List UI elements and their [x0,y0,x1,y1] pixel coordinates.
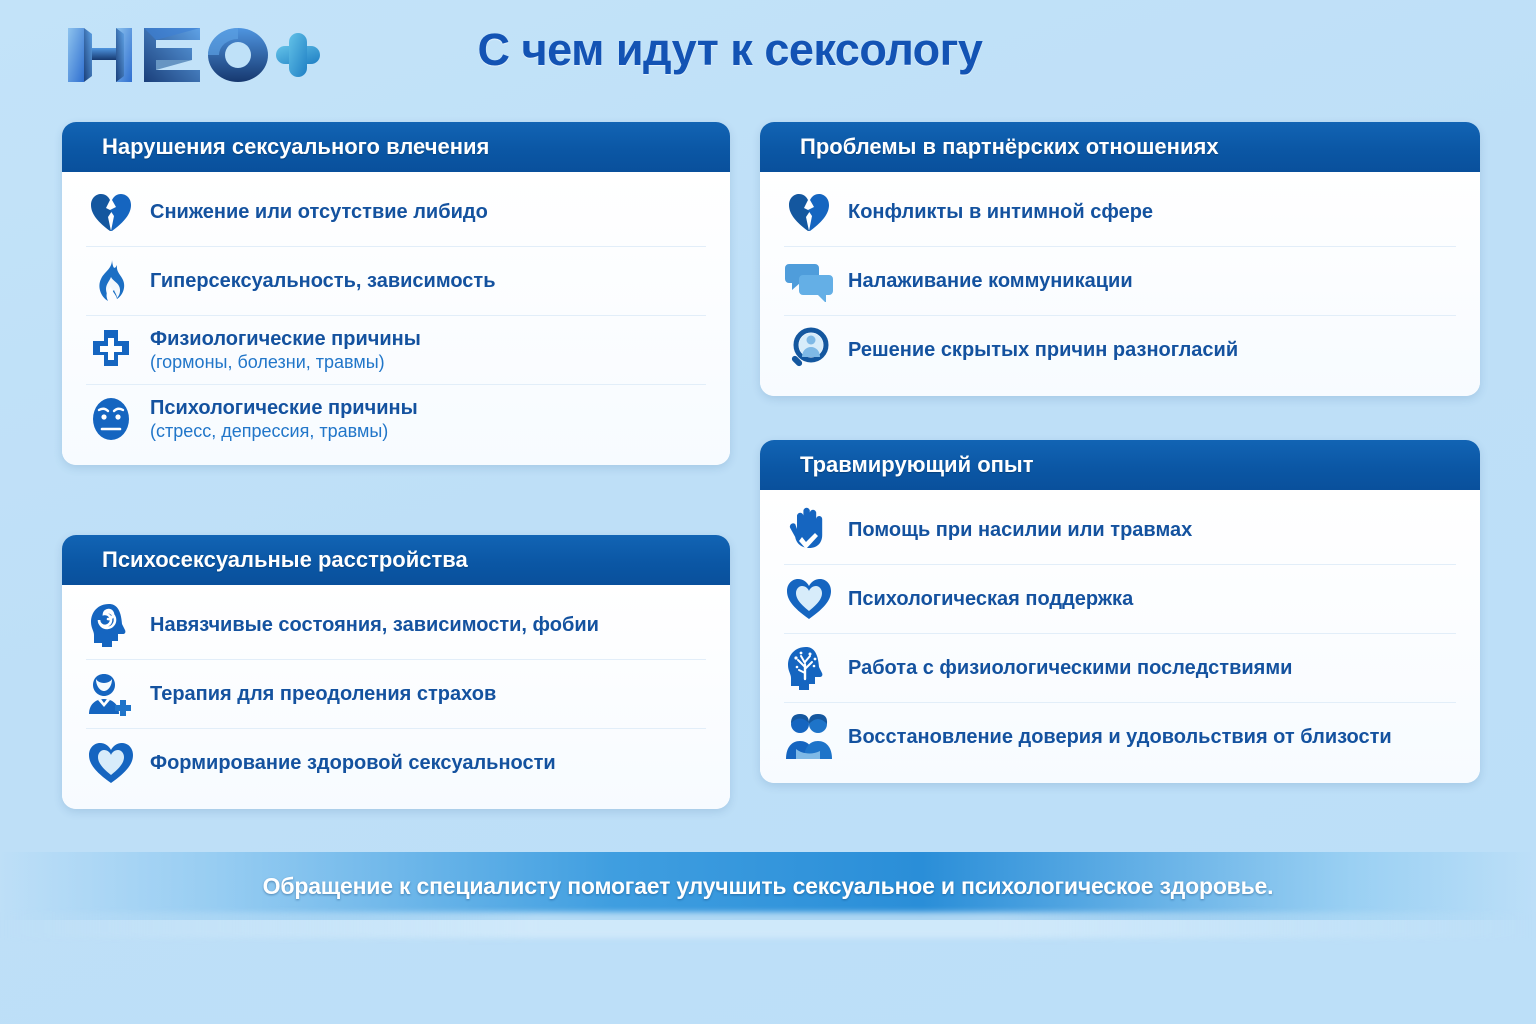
list-item[interactable]: Психологические причины (стресс, депресс… [86,385,706,453]
list-item[interactable]: Снижение или отсутствие либидо [86,178,706,247]
list-item[interactable]: Восстановление доверия и удовольствия от… [784,703,1456,771]
list-item-label: Психологические причины [150,397,418,419]
card-libido-title: Нарушения сексуального влечения [102,134,489,160]
card-psychosexual-body: Навязчивые состояния, зависимости, фобии… [62,585,730,809]
list-item[interactable]: Физиологические причины (гормоны, болезн… [86,316,706,385]
heart-icon [86,738,136,788]
card-libido-header: Нарушения сексуального влечения [62,122,730,172]
card-trauma-header: Травмирующий опыт [760,440,1480,490]
card-trauma-body: Помощь при насилии или травмах Психологи… [760,490,1480,783]
list-item-text: Восстановление доверия и удовольствия от… [848,726,1392,748]
list-item-label: Налаживание коммуникации [848,270,1133,292]
footer-text: Обращение к специалисту помогает улучшит… [263,873,1274,900]
card-partner: Проблемы в партнёрских отношениях Конфли… [760,122,1480,396]
list-item-label: Конфликты в интимной сфере [848,201,1153,223]
list-item-label: Снижение или отсутствие либидо [150,201,488,223]
card-partner-title: Проблемы в партнёрских отношениях [800,134,1219,160]
list-item[interactable]: Решение скрытых причин разногласий [784,316,1456,384]
list-item-label: Физиологические причины [150,328,421,350]
person-plus-icon [86,669,136,719]
sad-face-icon [86,394,136,444]
broken-heart-icon [784,187,834,237]
list-item-text: Терапия для преодоления страхов [150,683,496,705]
flame-icon [86,256,136,306]
footer-banner: Обращение к специалисту помогает улучшит… [0,852,1536,920]
list-item[interactable]: Психологическая поддержка [784,565,1456,634]
list-item[interactable]: Формирование здоровой сексуальности [86,729,706,797]
card-libido: Нарушения сексуального влечения Снижение… [62,122,730,465]
card-trauma: Травмирующий опыт Помощь при насилии или… [760,440,1480,783]
card-trauma-title: Травмирующий опыт [800,452,1034,478]
list-item-text: Работа с физиологическими последствиями [848,657,1292,679]
medical-cross-icon [86,325,136,375]
list-item-label: Гиперсексуальность, зависимость [150,270,496,292]
list-item[interactable]: Работа с физиологическими последствиями [784,634,1456,703]
list-item[interactable]: Помощь при насилии или травмах [784,496,1456,565]
page-header: С чем идут к сексологу [0,0,1536,108]
list-item-text: Снижение или отсутствие либидо [150,201,488,223]
list-item-text: Конфликты в интимной сфере [848,201,1153,223]
neo-plus-logo [60,20,320,90]
list-item-label: Психологическая поддержка [848,588,1133,610]
list-item-text: Физиологические причины (гормоны, болезн… [150,328,421,373]
list-item[interactable]: Конфликты в интимной сфере [784,178,1456,247]
footer-glow [0,912,1536,938]
card-partner-header: Проблемы в партнёрских отношениях [760,122,1480,172]
card-psychosexual-header: Психосексуальные расстройства [62,535,730,585]
list-item-sublabel: (гормоны, болезни, травмы) [150,352,421,372]
couple-embrace-icon [784,712,834,762]
list-item-label: Работа с физиологическими последствиями [848,657,1292,679]
head-spiral-icon [86,600,136,650]
list-item-label: Терапия для преодоления страхов [150,683,496,705]
list-item-label: Навязчивые состояния, зависимости, фобии [150,614,599,636]
list-item-text: Налаживание коммуникации [848,270,1133,292]
card-partner-body: Конфликты в интимной сфере Налаживание к… [760,172,1480,396]
list-item-text: Гиперсексуальность, зависимость [150,270,496,292]
heart-icon [784,574,834,624]
list-item[interactable]: Навязчивые состояния, зависимости, фобии [86,591,706,660]
list-item-text: Психологическая поддержка [848,588,1133,610]
list-item-text: Навязчивые состояния, зависимости, фобии [150,614,599,636]
list-item[interactable]: Терапия для преодоления страхов [86,660,706,729]
broken-heart-icon [86,187,136,237]
card-psychosexual: Психосексуальные расстройства Навязчивые… [62,535,730,809]
page-title: С чем идут к сексологу [380,24,1080,76]
hand-check-icon [784,505,834,555]
list-item-text: Формирование здоровой сексуальности [150,752,556,774]
list-item[interactable]: Гиперсексуальность, зависимость [86,247,706,316]
list-item-text: Психологические причины (стресс, депресс… [150,397,418,442]
infographic-page: С чем идут к сексологу Нарушения сексуал… [0,0,1536,1024]
list-item-label: Помощь при насилии или травмах [848,519,1192,541]
chat-bubbles-icon [784,256,834,306]
list-item-text: Решение скрытых причин разногласий [848,339,1238,361]
list-item-label: Восстановление доверия и удовольствия от… [848,726,1392,748]
magnifier-person-icon [784,325,834,375]
list-item-label: Решение скрытых причин разногласий [848,339,1238,361]
head-tree-icon [784,643,834,693]
list-item-label: Формирование здоровой сексуальности [150,752,556,774]
list-item[interactable]: Налаживание коммуникации [784,247,1456,316]
card-psychosexual-title: Психосексуальные расстройства [102,547,468,573]
card-libido-body: Снижение или отсутствие либидо Гиперсекс… [62,172,730,465]
list-item-text: Помощь при насилии или травмах [848,519,1192,541]
list-item-sublabel: (стресс, депрессия, травмы) [150,421,418,441]
